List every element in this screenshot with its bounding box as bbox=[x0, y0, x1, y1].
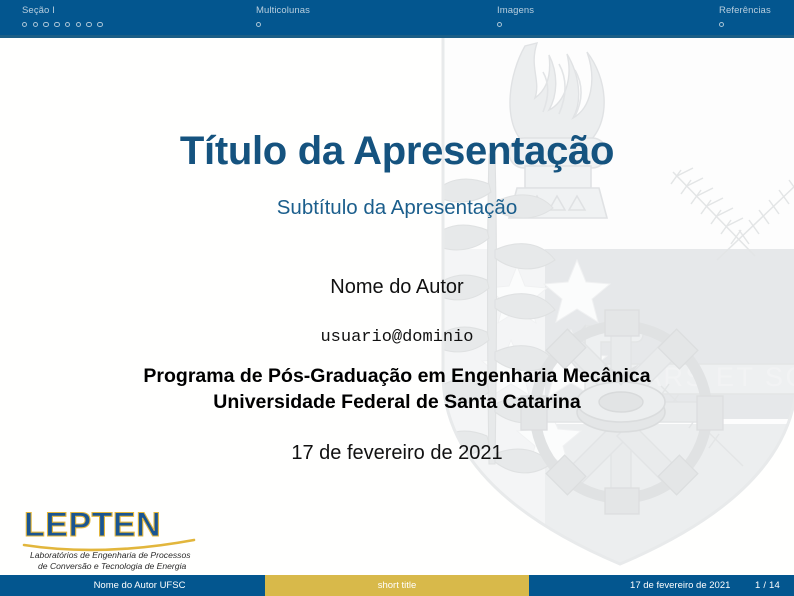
nav-section-label: Imagens bbox=[497, 5, 534, 17]
institute-university-line: Universidade Federal de Santa Catarina bbox=[0, 389, 794, 415]
nav-dot[interactable] bbox=[86, 22, 91, 27]
footer-date-page-segment[interactable]: 17 de fevereiro de 2021 1 / 14 bbox=[529, 575, 794, 596]
navigation-header: Seção I Multicolunas Imagens bbox=[0, 0, 794, 38]
nav-section-multicolunas[interactable]: Multicolunas bbox=[256, 5, 310, 30]
nav-section-imagens[interactable]: Imagens bbox=[497, 5, 534, 30]
lepten-wordmark: LEPTEN bbox=[24, 506, 161, 544]
lepten-logo: LEPTEN Laboratórios de Engenharia de Pro… bbox=[22, 500, 222, 572]
author-email: usuario@dominio bbox=[0, 326, 794, 350]
lepten-tagline-line1: Laboratórios de Engenharia de Processos bbox=[30, 550, 191, 560]
author-name: Nome do Autor bbox=[0, 274, 794, 300]
footer-date: 17 de fevereiro de 2021 bbox=[630, 580, 730, 591]
nav-section-label: Multicolunas bbox=[256, 5, 310, 17]
institute-block: Programa de Pós-Graduação em Engenharia … bbox=[0, 363, 794, 415]
nav-dot[interactable] bbox=[497, 22, 502, 27]
nav-section-secao-i[interactable]: Seção I bbox=[22, 5, 105, 30]
nav-section-dots[interactable] bbox=[497, 20, 534, 30]
ufsc-crest-watermark: ARS ET SC bbox=[425, 34, 794, 579]
nav-dot[interactable] bbox=[22, 22, 27, 27]
nav-section-dots[interactable] bbox=[719, 20, 771, 30]
footer-author-segment[interactable]: Nome do Autor UFSC bbox=[0, 575, 265, 596]
slide-footer: Nome do Autor UFSC short title 17 de fev… bbox=[0, 575, 794, 596]
nav-dot[interactable] bbox=[719, 22, 724, 27]
nav-section-label: Referências bbox=[719, 5, 771, 17]
nav-section-dots[interactable] bbox=[256, 20, 310, 30]
presentation-title: Título da Apresentação bbox=[0, 128, 794, 174]
nav-dot[interactable] bbox=[54, 22, 59, 27]
nav-dot[interactable] bbox=[76, 22, 81, 27]
footer-page-number: 1 / 14 bbox=[755, 580, 780, 591]
nav-section-referencias[interactable]: Referências bbox=[719, 5, 771, 30]
nav-dot[interactable] bbox=[65, 22, 70, 27]
presentation-subtitle: Subtítulo da Apresentação bbox=[0, 195, 794, 221]
footer-short-title-segment[interactable]: short title bbox=[265, 575, 529, 596]
nav-dot[interactable] bbox=[33, 22, 38, 27]
nav-dot[interactable] bbox=[43, 22, 48, 27]
slide-canvas: ARS ET SC bbox=[0, 0, 794, 596]
lepten-tagline-line2: de Conversão e Tecnologia de Energia bbox=[38, 561, 186, 571]
nav-section-dots[interactable] bbox=[22, 20, 105, 30]
nav-dot[interactable] bbox=[97, 22, 102, 27]
nav-section-label: Seção I bbox=[22, 5, 105, 17]
nav-dot[interactable] bbox=[256, 22, 261, 27]
institute-program-line: Programa de Pós-Graduação em Engenharia … bbox=[0, 363, 794, 389]
presentation-date: 17 de fevereiro de 2021 bbox=[0, 440, 794, 466]
